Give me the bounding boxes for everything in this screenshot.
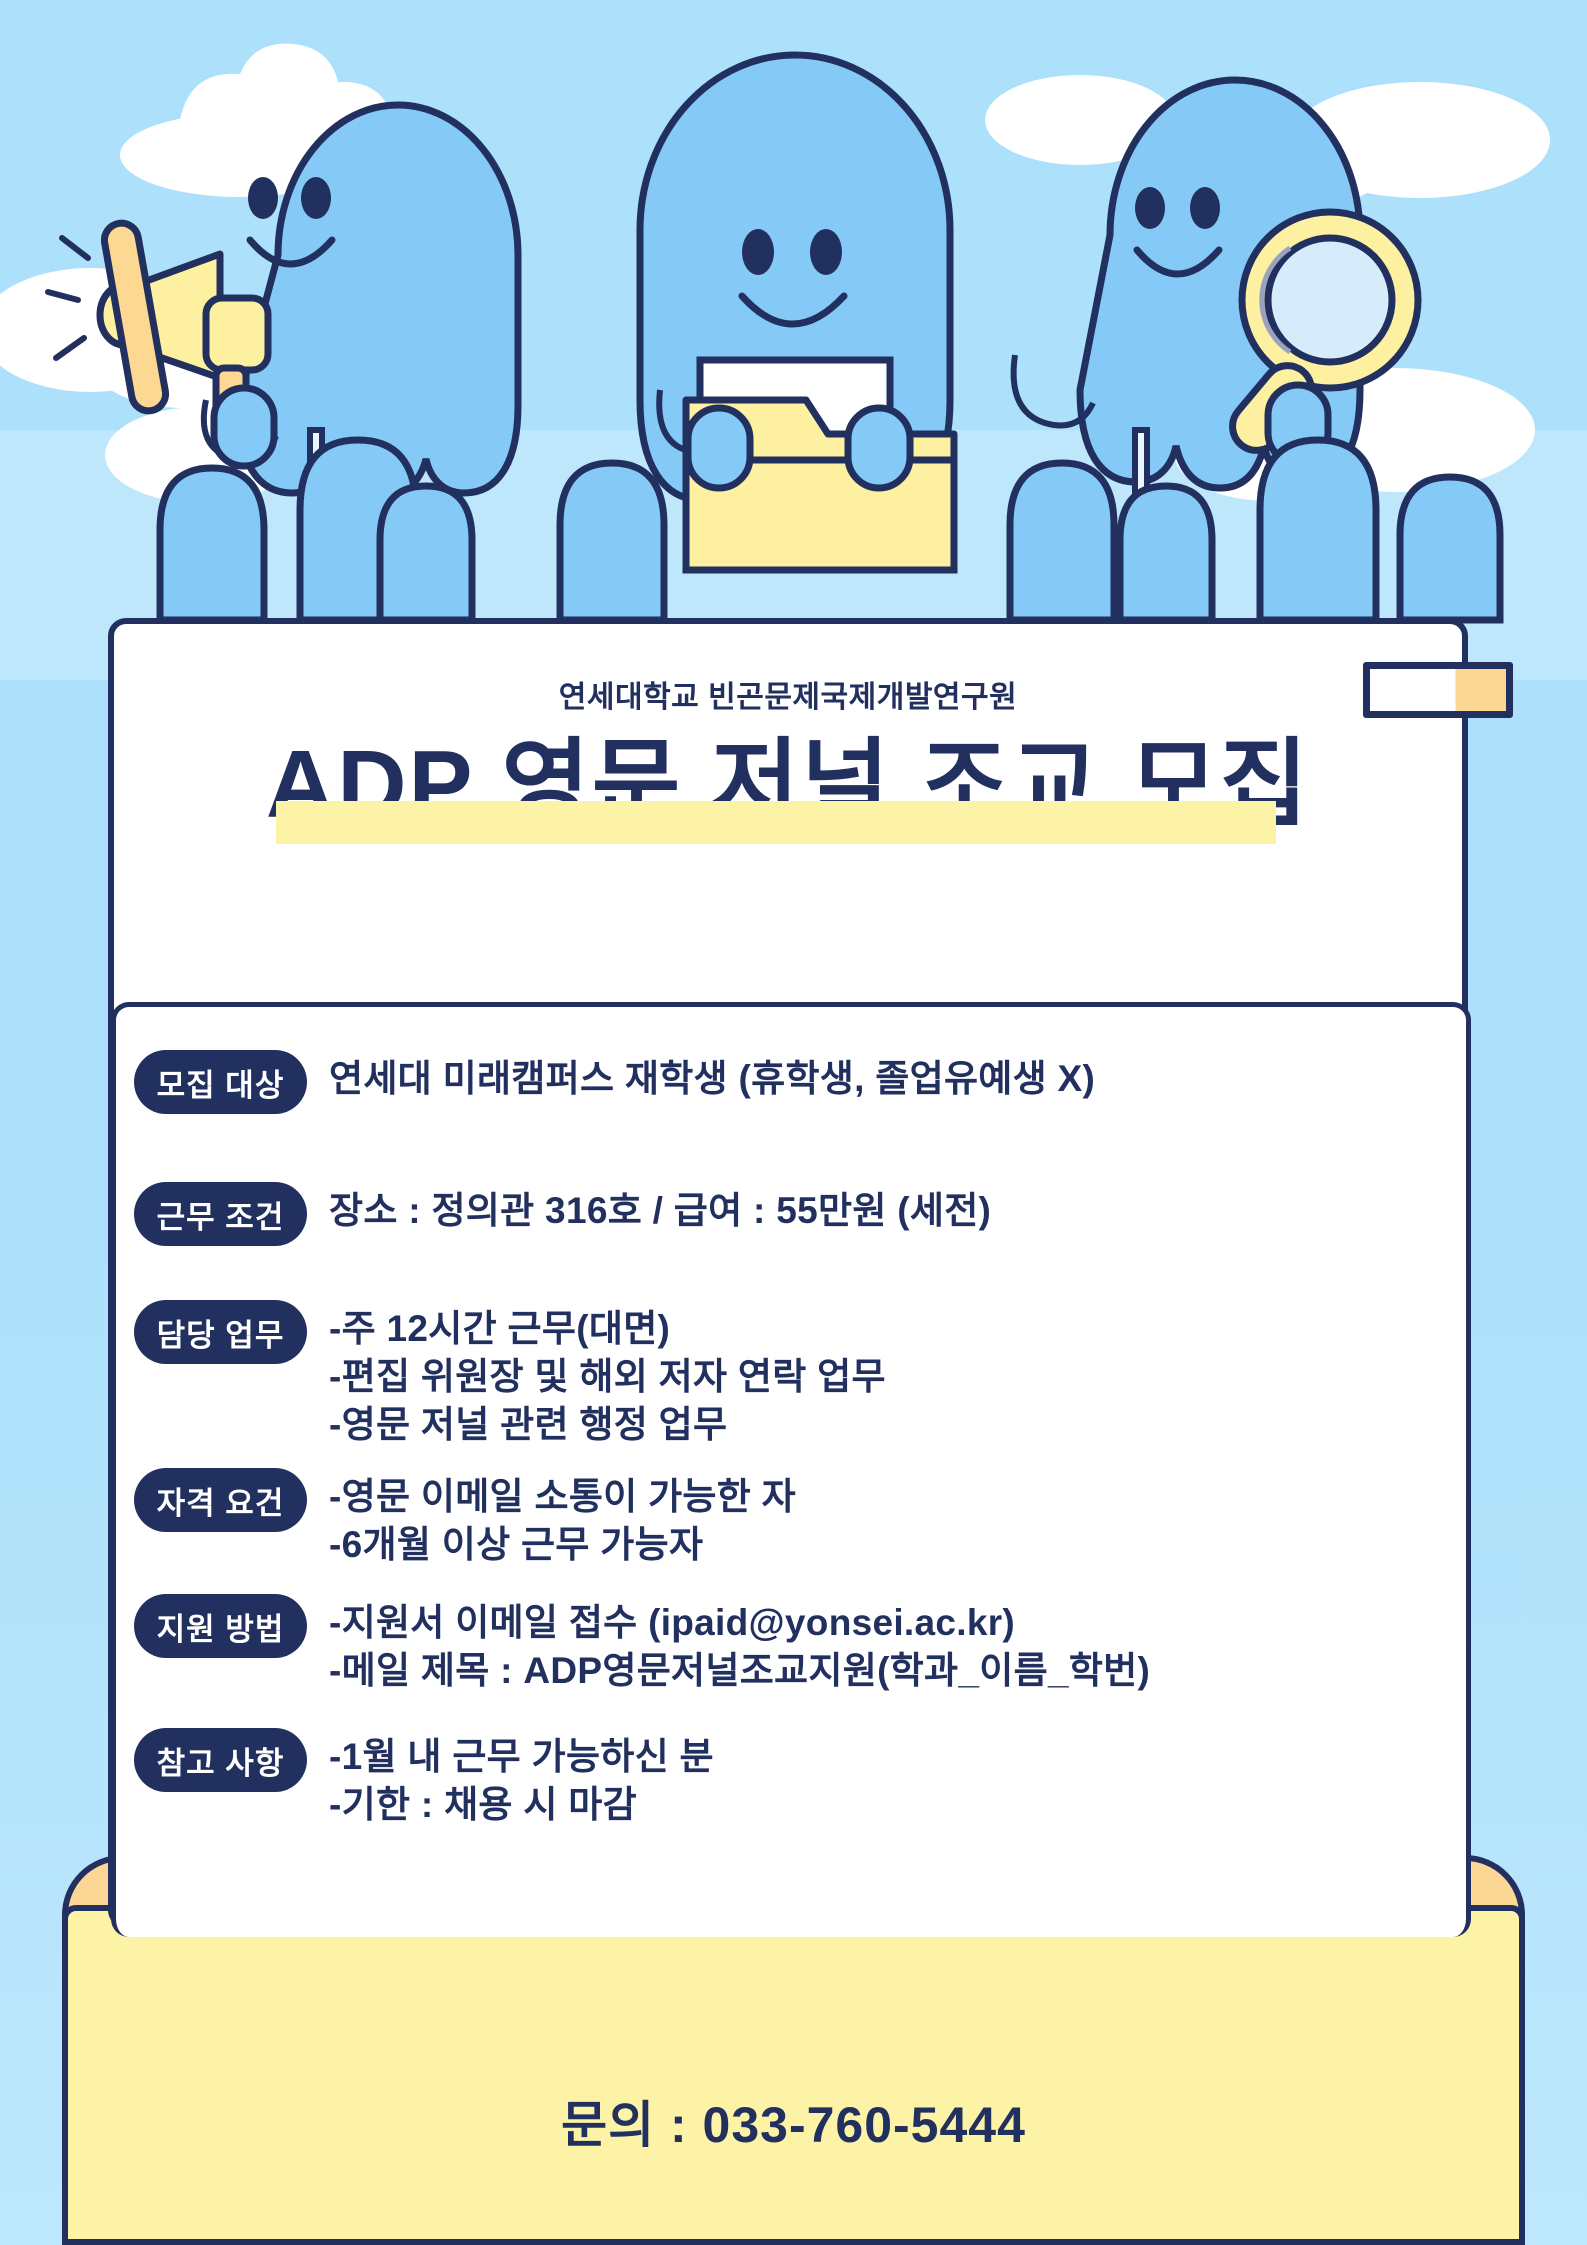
section-qualifications: 자격 요건 -영문 이메일 소통이 가능한 자 -6개월 이상 근무 가능자 [116, 1465, 1466, 1569]
card-corner-tab [1363, 662, 1513, 718]
section-tag: 모집 대상 [134, 1050, 307, 1114]
section-content: 장소 : 정의관 316호 / 급여 : 55만원 (세전) [307, 1179, 991, 1235]
eye-icon [810, 229, 842, 275]
contact-footer: 문의 : 033-760-5444 [0, 2085, 1587, 2157]
eye-icon [248, 177, 278, 219]
section-target: 모집 대상 연세대 미래캠퍼스 재학생 (휴학생, 졸업유예생 X) [116, 1047, 1466, 1114]
section-conditions: 근무 조건 장소 : 정의관 316호 / 급여 : 55만원 (세전) [116, 1179, 1466, 1246]
eye-icon [301, 177, 331, 219]
organization-name: 연세대학교 빈곤문제국제개발연구원 [114, 672, 1462, 716]
page-title: ADP 영문 저널 조교 모집 [266, 724, 1310, 847]
section-content: 연세대 미래캠퍼스 재학생 (휴학생, 졸업유예생 X) [307, 1047, 1095, 1103]
hand-icon [848, 408, 910, 488]
section-content: -주 12시간 근무(대면) -편집 위원장 및 해외 저자 연락 업무 -영문… [307, 1297, 886, 1449]
character-with-document [640, 55, 954, 570]
title-highlight [276, 801, 1276, 844]
section-tag: 근무 조건 [134, 1182, 307, 1246]
section-apply: 지원 방법 -지원서 이메일 접수 (ipaid@yonsei.ac.kr) -… [116, 1591, 1466, 1695]
section-tag: 담당 업무 [134, 1300, 307, 1364]
info-card: 연세대학교 빈곤문제국제개발연구원 ADP 영문 저널 조교 모집 모집 대상 … [108, 618, 1468, 1928]
section-content: -영문 이메일 소통이 가능한 자 -6개월 이상 근무 가능자 [307, 1465, 796, 1569]
poster-root: 연세대학교 빈곤문제국제개발연구원 ADP 영문 저널 조교 모집 모집 대상 … [0, 0, 1587, 2245]
section-duties: 담당 업무 -주 12시간 근무(대면) -편집 위원장 및 해외 저자 연락 … [116, 1297, 1466, 1449]
section-content: -1월 내 근무 가능하신 분 -기한 : 채용 시 마감 [307, 1725, 714, 1829]
eye-icon [1190, 187, 1220, 229]
hand-icon [214, 388, 274, 466]
poster-title-wrap: ADP 영문 저널 조교 모집 [114, 724, 1462, 864]
hand-icon [688, 408, 750, 488]
eye-icon [742, 229, 774, 275]
details-panel: 모집 대상 연세대 미래캠퍼스 재학생 (휴학생, 졸업유예생 X) 근무 조건… [111, 1002, 1471, 1937]
envelope-body [62, 1905, 1525, 2245]
section-notes: 참고 사항 -1월 내 근무 가능하신 분 -기한 : 채용 시 마감 [116, 1725, 1466, 1829]
eye-icon [1135, 187, 1165, 229]
section-tag: 지원 방법 [134, 1594, 307, 1658]
section-content: -지원서 이메일 접수 (ipaid@yonsei.ac.kr) -메일 제목 … [307, 1591, 1150, 1695]
section-tag: 참고 사항 [134, 1728, 307, 1792]
header-illustration [0, 0, 1587, 700]
section-tag: 자격 요건 [134, 1468, 307, 1532]
